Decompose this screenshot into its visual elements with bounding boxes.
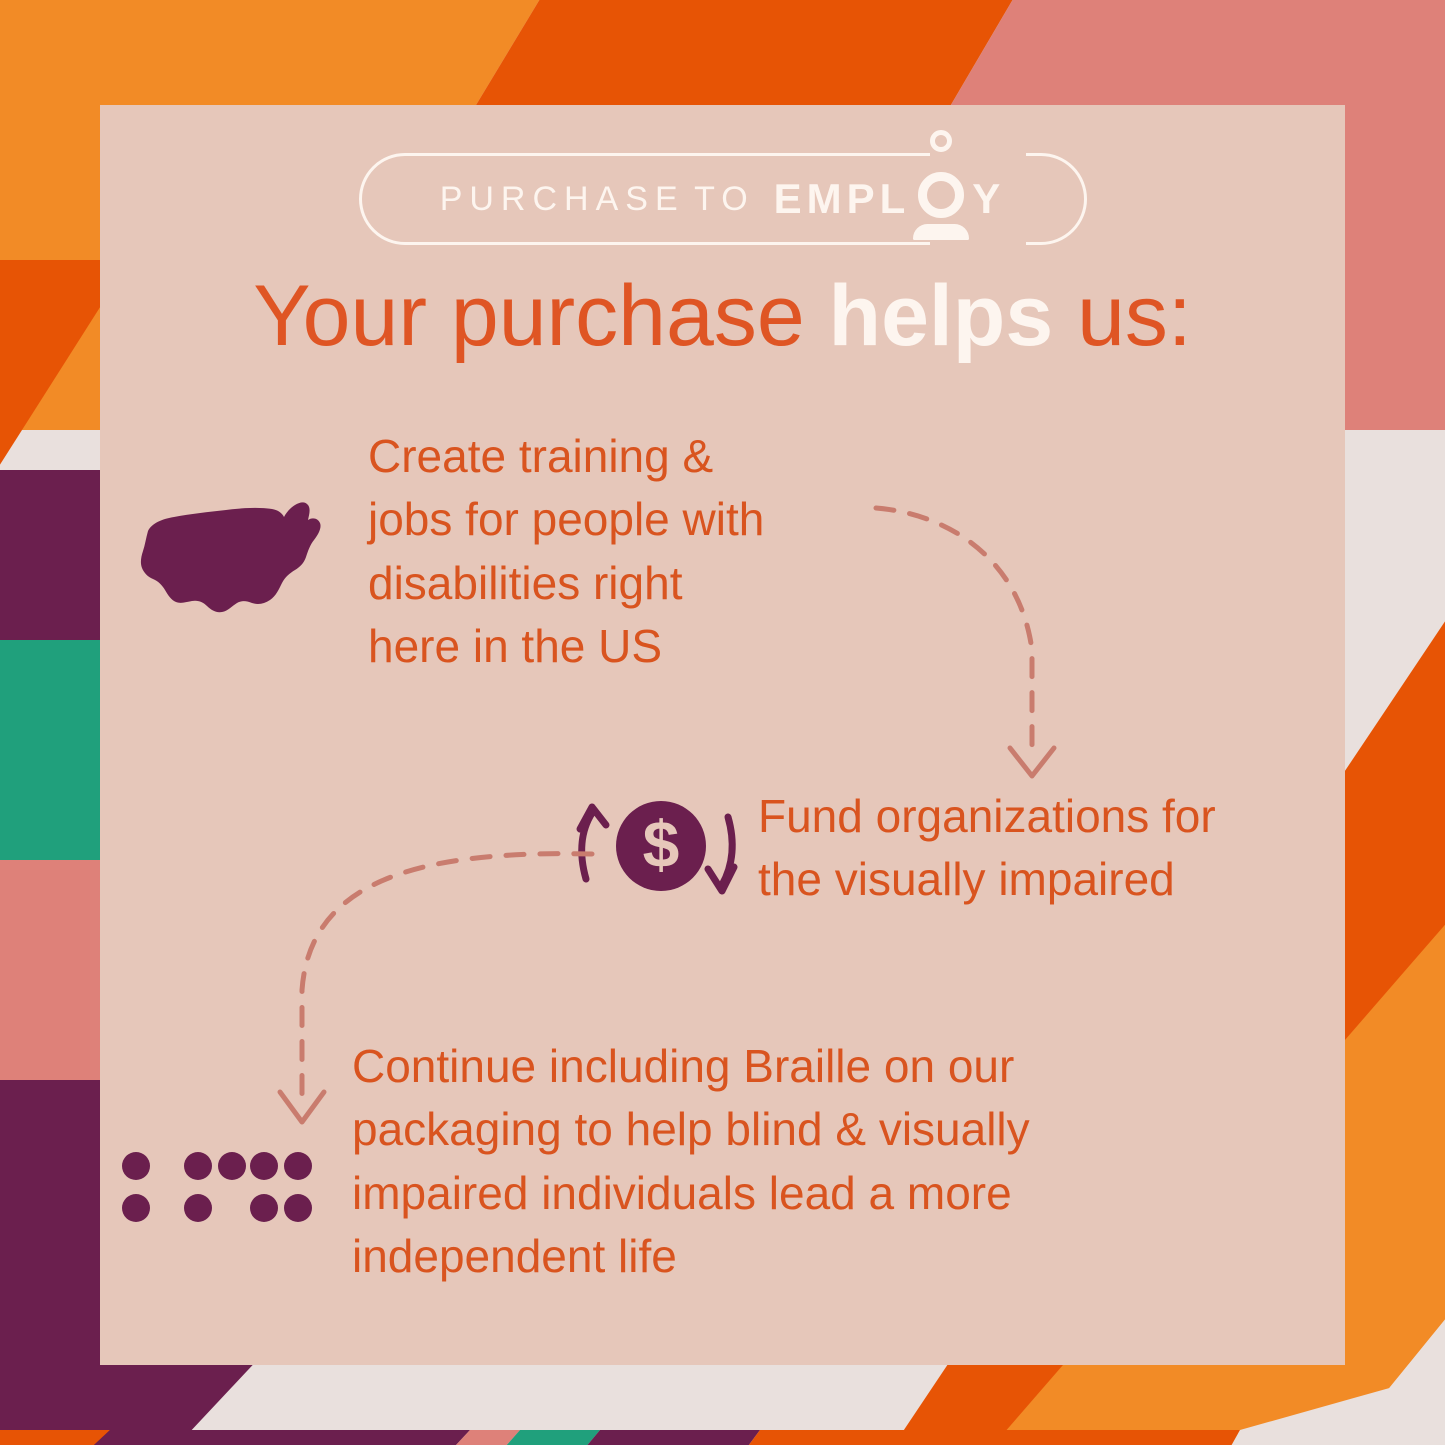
stripe-orange-left-2 — [0, 1430, 110, 1445]
item-2-text: Fund organizations for the visually impa… — [758, 785, 1318, 912]
badge-word-y: Y — [972, 178, 1005, 220]
headline-emphasis: helps — [829, 268, 1054, 364]
badge-word-purchase: PURCHASE — [440, 182, 685, 216]
braille-dots-icon — [112, 1150, 322, 1230]
arrow1-head — [1010, 748, 1054, 776]
arrow2-head — [280, 1092, 324, 1122]
brand-badge: PURCHASE TO EMPL Y — [359, 153, 1087, 245]
item-3-text: Continue including Braille on our packag… — [352, 1035, 1172, 1289]
braille-dot — [122, 1152, 150, 1180]
content-card: PURCHASE TO EMPL Y Your purchase helps u… — [100, 105, 1345, 1365]
braille-dot — [250, 1152, 278, 1180]
person-base-icon — [913, 224, 969, 240]
arrow-down-right-head — [708, 867, 734, 891]
braille-dot — [250, 1194, 278, 1222]
brand-badge-wrap: PURCHASE TO EMPL Y — [100, 153, 1345, 245]
braille-dot — [218, 1152, 246, 1180]
braille-dot — [184, 1152, 212, 1180]
braille-dot — [184, 1194, 212, 1222]
braille-dot — [284, 1194, 312, 1222]
person-head-icon — [930, 130, 952, 152]
braille-dot — [122, 1194, 150, 1222]
infographic-root: PURCHASE TO EMPL Y Your purchase helps u… — [0, 0, 1445, 1445]
person-glyph-icon — [914, 178, 968, 220]
dollar-sign-glyph: $ — [643, 811, 680, 877]
dollar-coin-icon: $ — [616, 801, 706, 891]
dashed-arrow-down-right-icon — [870, 500, 1080, 790]
braille-dot — [284, 1152, 312, 1180]
headline-part-1: Your purchase — [253, 268, 828, 364]
badge-notch-bottom — [930, 241, 1026, 255]
headline-part-3: us: — [1053, 268, 1192, 364]
brand-badge-text: PURCHASE TO EMPL Y — [362, 156, 1084, 242]
item-1-text: Create training & jobs for people with d… — [368, 425, 888, 679]
badge-word-empl: EMPL — [774, 178, 911, 220]
badge-word-to: TO — [694, 182, 755, 216]
page-title: Your purchase helps us: — [100, 273, 1345, 359]
us-map-icon — [132, 493, 344, 623]
person-body-ring-icon — [918, 172, 964, 218]
arrow1-path — [876, 508, 1032, 758]
